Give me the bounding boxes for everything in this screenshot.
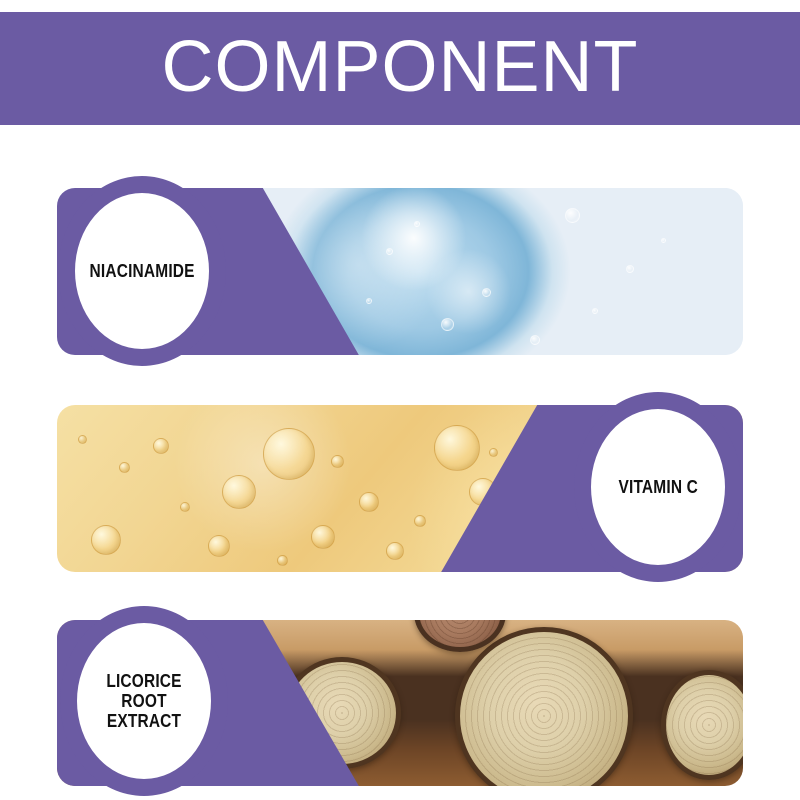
badge-vitamin-c[interactable]: VITAMIN C xyxy=(574,392,742,582)
badge-label-licorice-root-extract: LICORICE ROOT EXTRACT xyxy=(86,671,201,731)
badge-label-niacinamide: NIACINAMIDE xyxy=(86,261,198,281)
badge-label-vitamin-c: VITAMIN C xyxy=(615,477,701,497)
page-title: COMPONENT xyxy=(162,31,639,103)
header-bar: COMPONENT xyxy=(0,12,800,125)
badge-licorice-root-extract[interactable]: LICORICE ROOT EXTRACT xyxy=(60,606,228,796)
infographic-page: COMPONENT NIACINAMIDE xyxy=(0,0,800,800)
badge-niacinamide[interactable]: NIACINAMIDE xyxy=(58,176,226,366)
